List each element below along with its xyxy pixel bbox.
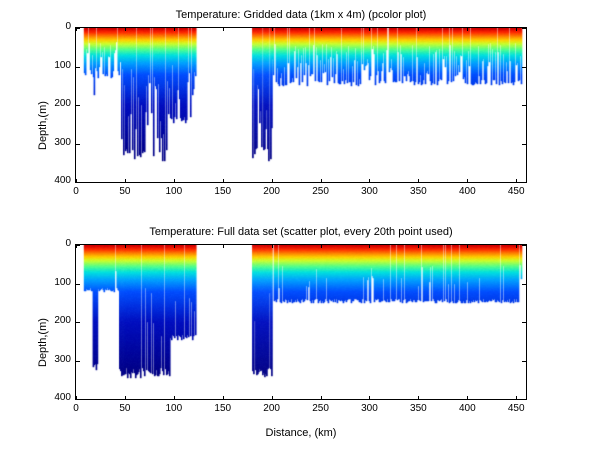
y-tick-mark (76, 67, 80, 68)
x-tick-label: 450 (501, 403, 531, 414)
x-tick-label: 150 (208, 186, 238, 197)
x-tick-mark (321, 27, 322, 31)
x-tick-mark (467, 396, 468, 400)
x-tick-mark (516, 396, 517, 400)
x-tick-mark (467, 27, 468, 31)
x-tick-mark (125, 396, 126, 400)
x-tick-mark (418, 27, 419, 31)
y-tick-label: 300 (43, 354, 71, 365)
x-tick-mark (174, 27, 175, 31)
x-tick-label: 200 (257, 403, 287, 414)
x-tick-mark (369, 179, 370, 183)
y-tick-label: 100 (43, 277, 71, 288)
panel-gridded-heatmap-canvas (76, 28, 526, 182)
panel-scatter-title: Temperature: Full data set (scatter plot… (75, 226, 527, 238)
x-tick-mark (321, 179, 322, 183)
x-tick-mark (516, 244, 517, 248)
x-tick-mark (272, 244, 273, 248)
x-tick-mark (321, 244, 322, 248)
y-tick-mark (76, 144, 80, 145)
panel-gridded-title: Temperature: Gridded data (1km x 4m) (pc… (75, 9, 527, 21)
y-tick-label: 300 (43, 137, 71, 148)
y-tick-mark (522, 284, 526, 285)
panel-scatter-xlabel: Distance, (km) (75, 427, 527, 439)
x-tick-label: 50 (110, 403, 140, 414)
y-tick-mark (522, 361, 526, 362)
x-tick-mark (223, 179, 224, 183)
y-tick-mark (76, 284, 80, 285)
y-tick-mark (76, 322, 80, 323)
y-tick-mark (522, 144, 526, 145)
panel-scatter-plot-area[interactable] (75, 244, 527, 400)
panel-gridded-plot-area[interactable] (75, 27, 527, 183)
y-tick-label: 100 (43, 60, 71, 71)
x-tick-mark (418, 244, 419, 248)
x-tick-label: 0 (61, 403, 91, 414)
y-tick-mark (522, 399, 526, 400)
y-tick-label: 200 (43, 98, 71, 109)
x-tick-mark (223, 27, 224, 31)
x-tick-mark (272, 27, 273, 31)
x-tick-label: 150 (208, 403, 238, 414)
x-tick-mark (369, 27, 370, 31)
x-tick-mark (174, 396, 175, 400)
x-tick-mark (223, 396, 224, 400)
x-tick-mark (272, 396, 273, 400)
x-tick-mark (174, 244, 175, 248)
y-tick-mark (522, 67, 526, 68)
x-tick-mark (272, 179, 273, 183)
x-tick-label: 300 (354, 186, 384, 197)
y-tick-mark (76, 105, 80, 106)
x-tick-label: 250 (306, 186, 336, 197)
y-tick-label: 400 (43, 392, 71, 403)
x-tick-mark (418, 179, 419, 183)
x-tick-label: 350 (403, 403, 433, 414)
figure-root: Temperature: Gridded data (1km x 4m) (pc… (0, 0, 600, 451)
x-tick-label: 400 (452, 403, 482, 414)
x-tick-label: 200 (257, 186, 287, 197)
x-tick-mark (467, 244, 468, 248)
x-tick-mark (125, 244, 126, 248)
x-tick-label: 300 (354, 403, 384, 414)
y-tick-label: 0 (43, 21, 71, 32)
x-tick-mark (467, 179, 468, 183)
x-tick-label: 100 (159, 186, 189, 197)
x-tick-label: 50 (110, 186, 140, 197)
y-tick-mark (76, 399, 80, 400)
x-tick-label: 350 (403, 186, 433, 197)
x-tick-label: 100 (159, 403, 189, 414)
y-tick-mark (522, 182, 526, 183)
x-tick-mark (321, 396, 322, 400)
x-tick-mark (125, 27, 126, 31)
y-tick-mark (76, 28, 80, 29)
y-tick-mark (522, 245, 526, 246)
x-tick-label: 0 (61, 186, 91, 197)
x-tick-label: 250 (306, 403, 336, 414)
y-tick-mark (522, 28, 526, 29)
x-tick-mark (418, 396, 419, 400)
y-tick-mark (522, 105, 526, 106)
x-tick-mark (125, 179, 126, 183)
x-tick-label: 450 (501, 186, 531, 197)
y-tick-label: 0 (43, 238, 71, 249)
y-tick-mark (76, 182, 80, 183)
y-tick-label: 400 (43, 175, 71, 186)
y-tick-mark (76, 361, 80, 362)
x-tick-mark (369, 244, 370, 248)
x-tick-mark (516, 179, 517, 183)
panel-scatter-canvas (76, 245, 526, 399)
x-tick-mark (516, 27, 517, 31)
x-tick-mark (174, 179, 175, 183)
y-tick-mark (522, 322, 526, 323)
y-tick-label: 200 (43, 315, 71, 326)
x-tick-mark (223, 244, 224, 248)
x-tick-label: 400 (452, 186, 482, 197)
x-tick-mark (369, 396, 370, 400)
y-tick-mark (76, 245, 80, 246)
